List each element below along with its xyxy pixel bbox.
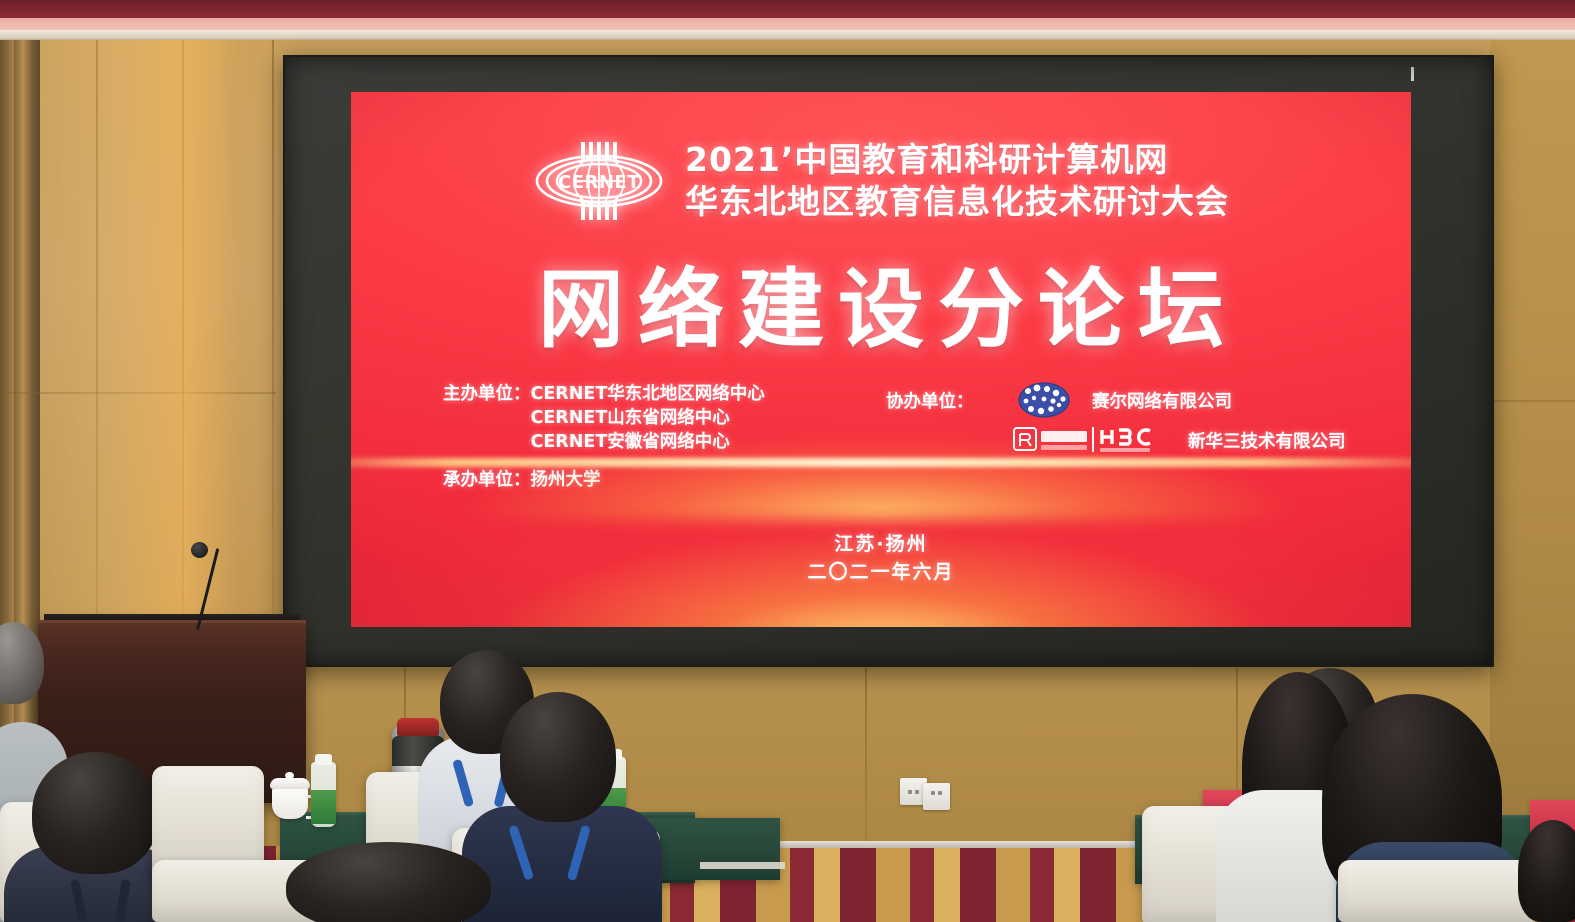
conference-hall-scene: CERNET 2021’中国教育和科研计算机网 华东北地区教育信息化技术研讨大会… (0, 0, 1575, 922)
slide-sun-glow (415, 370, 1348, 520)
slide-header-lines: 2021’中国教育和科研计算机网 华东北地区教育信息化技术研讨大会 (685, 140, 1229, 222)
water-bottle-cap (315, 754, 332, 765)
teacup (272, 785, 308, 819)
paper-sheet (700, 862, 785, 869)
outlet-dot (938, 791, 942, 795)
carpet-border (0, 0, 1575, 18)
slide-footer-location: 江苏·扬州 (351, 530, 1411, 558)
outlet-dot (915, 790, 919, 794)
chair (1338, 860, 1538, 922)
audience-head (32, 752, 158, 874)
wall-seam-horizontal (1490, 400, 1575, 402)
slide-sun-line (351, 458, 1411, 467)
outlet-dot (908, 790, 912, 794)
slide-header-line2: 华东北地区教育信息化技术研讨大会 (685, 182, 1229, 222)
audience-head (1518, 820, 1575, 922)
audience-body (462, 806, 662, 922)
wall-seam-horizontal (0, 392, 276, 394)
wall-seam (865, 668, 867, 868)
audience-head (500, 692, 616, 822)
teacup-knob (285, 772, 294, 779)
svg-text:CERNET: CERNET (558, 172, 640, 193)
slide-footer-date: 二〇二一年六月 (351, 558, 1411, 586)
microphone-icon (191, 542, 208, 558)
audience-head (286, 842, 491, 922)
outlet-dot (931, 791, 935, 795)
cernet-logo-icon: CERNET (533, 134, 665, 228)
teacup-lid (270, 778, 310, 789)
presentation-screen: CERNET 2021’中国教育和科研计算机网 华东北地区教育信息化技术研讨大会… (283, 55, 1494, 667)
slide-main-title: 网络建设分论坛 (351, 262, 1411, 358)
slide-header: CERNET 2021’中国教育和科研计算机网 华东北地区教育信息化技术研讨大会 (351, 134, 1411, 228)
wall-outlet[interactable] (923, 783, 950, 810)
slide-footer: 江苏·扬州 二〇二一年六月 (351, 530, 1411, 586)
slide-content: CERNET 2021’中国教育和科研计算机网 华东北地区教育信息化技术研讨大会… (351, 92, 1411, 627)
wall-seam (272, 40, 274, 640)
water-bottle-label (311, 790, 336, 824)
slide-header-line1: 2021’中国教育和科研计算机网 (685, 140, 1229, 180)
wall-panel-right (1490, 40, 1575, 860)
thermos-lid (397, 718, 439, 736)
screen-tick-mark (1411, 67, 1414, 81)
